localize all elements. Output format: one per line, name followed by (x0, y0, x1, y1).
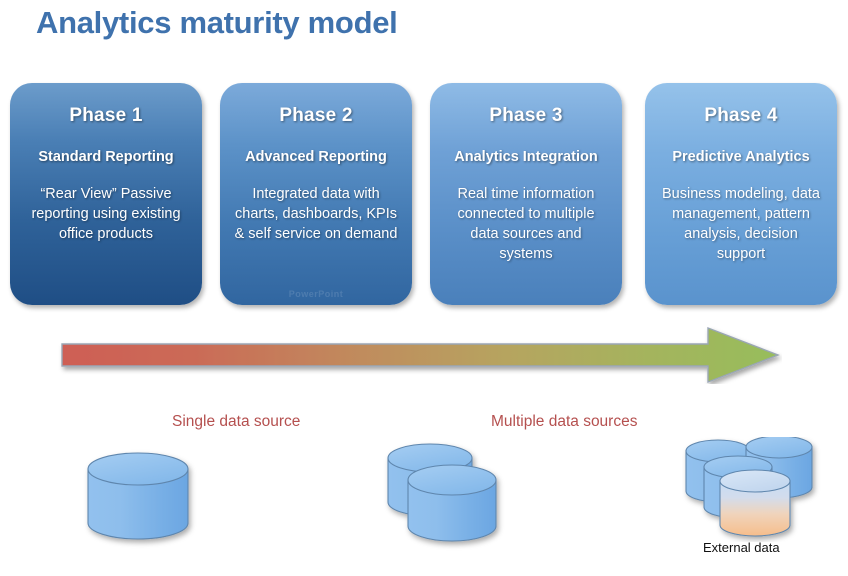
multiple-databases-cylinder-icon (382, 440, 522, 552)
phase-card-4-heading: Phase 4 (653, 105, 829, 127)
maturity-progression-arrow-icon (58, 326, 782, 384)
phase-card-3-description: Real time information connected to multi… (438, 184, 614, 264)
phase-card-2-description: Integrated data with charts, dashboards,… (228, 184, 404, 244)
phase-card-3[interactable]: Phase 3 Analytics Integration Real time … (430, 83, 622, 305)
phase-card-1-heading: Phase 1 (18, 105, 194, 127)
page-title: Analytics maturity model (36, 5, 397, 41)
phase-card-1[interactable]: Phase 1 Standard Reporting “Rear View” P… (10, 83, 202, 305)
phase-card-1-description: “Rear View” Passive reporting using exis… (18, 184, 194, 244)
phase-card-2-heading: Phase 2 (228, 105, 404, 127)
phase-card-1-subtitle: Standard Reporting (18, 149, 194, 165)
phase-card-4-description: Business modeling, data management, patt… (653, 184, 829, 264)
caption-multiple-data-sources: Multiple data sources (491, 413, 637, 431)
phase-card-4-subtitle: Predictive Analytics (653, 149, 829, 165)
single-database-cylinder-icon (78, 447, 208, 552)
caption-external-data: External data (703, 540, 780, 555)
phase-card-4[interactable]: Phase 4 Predictive Analytics Business mo… (645, 83, 837, 305)
phase-card-3-subtitle: Analytics Integration (438, 149, 614, 165)
caption-single-data-source: Single data source (172, 413, 300, 431)
phase-card-2-subtitle: Advanced Reporting (228, 149, 404, 165)
phase-card-2[interactable]: Phase 2 Advanced Reporting Integrated da… (220, 83, 412, 305)
external-databases-cylinder-icon (682, 437, 842, 542)
phase-card-2-watermark: PowerPoint (220, 289, 412, 299)
phase-card-3-heading: Phase 3 (438, 105, 614, 127)
